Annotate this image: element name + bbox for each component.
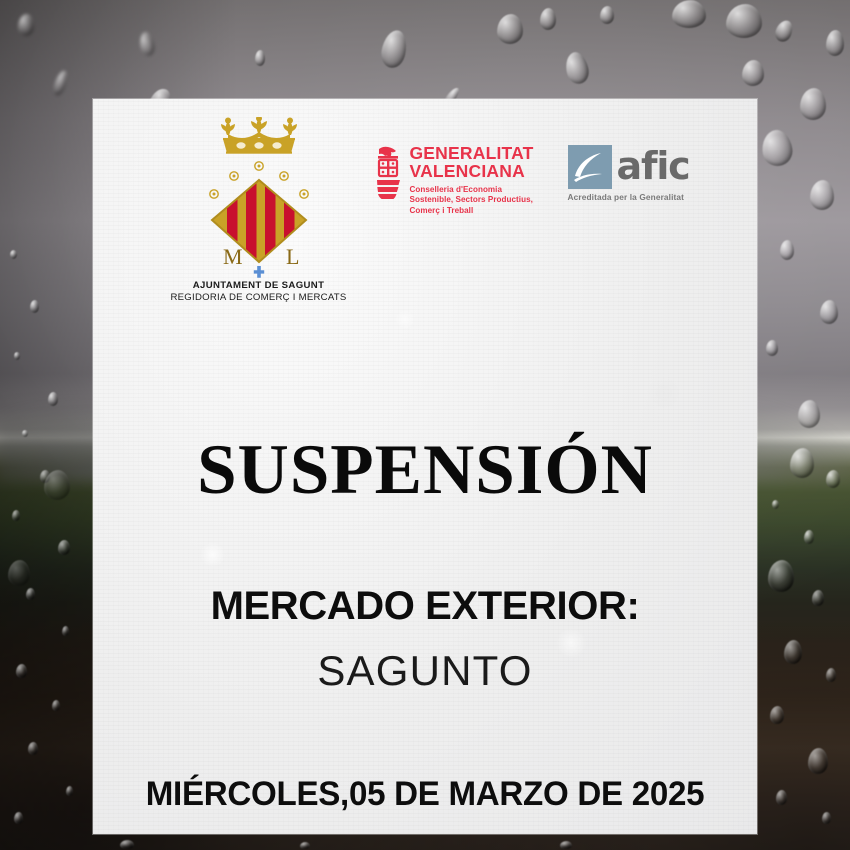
market-city: SAGUNTO [93, 650, 757, 692]
generalitat-sub-line-1: Conselleria d'Economia [410, 185, 534, 196]
generalitat-sub-line-3: Comerç i Treball [410, 206, 534, 217]
generalitat-emblem-icon [373, 145, 403, 203]
svg-text:M: M [223, 244, 243, 269]
market-label: MERCADO EXTERIOR: [93, 586, 757, 626]
poster-card: M L AJUNTAMENT DE SAGUNT REGIDORIA DE CO… [93, 99, 757, 834]
generalitat-subtitle: Conselleria d'Economia Sostenible, Secto… [410, 185, 534, 217]
afic-swoosh-icon [568, 145, 612, 189]
svg-text:L: L [286, 244, 299, 269]
generalitat-sub-line-2: Sostenible, Sectors Productius, [410, 195, 534, 206]
afic-wordmark: afic [617, 151, 690, 182]
shield-icon: M L [194, 158, 324, 278]
market-date: MIÉRCOLES,05 DE MARZO DE 2025 [106, 777, 743, 812]
sagunt-wordmark: AJUNTAMENT DE SAGUNT REGIDORIA DE COMERÇ… [170, 280, 346, 303]
headline-suspension: SUSPENSIÓN [93, 435, 757, 506]
cross-icon [253, 266, 263, 278]
afic-tagline: Acreditada per la Generalitat [568, 192, 684, 202]
generalitat-wordmark: GENERALITAT VALENCIANA Conselleria d'Eco… [410, 145, 534, 217]
logo-bar: M L AJUNTAMENT DE SAGUNT REGIDORIA DE CO… [93, 117, 757, 303]
logo-generalitat-valenciana: GENERALITAT VALENCIANA Conselleria d'Eco… [373, 145, 534, 217]
sagunt-line-2: REGIDORIA DE COMERÇ I MERCATS [170, 292, 346, 304]
crown-icon [207, 117, 311, 157]
generalitat-title-line-2: VALENCIANA [410, 163, 534, 181]
logo-ajuntament-de-sagunt: M L AJUNTAMENT DE SAGUNT REGIDORIA DE CO… [179, 117, 339, 303]
sagunt-line-1: AJUNTAMENT DE SAGUNT [170, 280, 346, 292]
logo-afic: afic Acreditada per la Generalitat [568, 145, 690, 202]
poster-canvas: M L AJUNTAMENT DE SAGUNT REGIDORIA DE CO… [0, 0, 850, 850]
